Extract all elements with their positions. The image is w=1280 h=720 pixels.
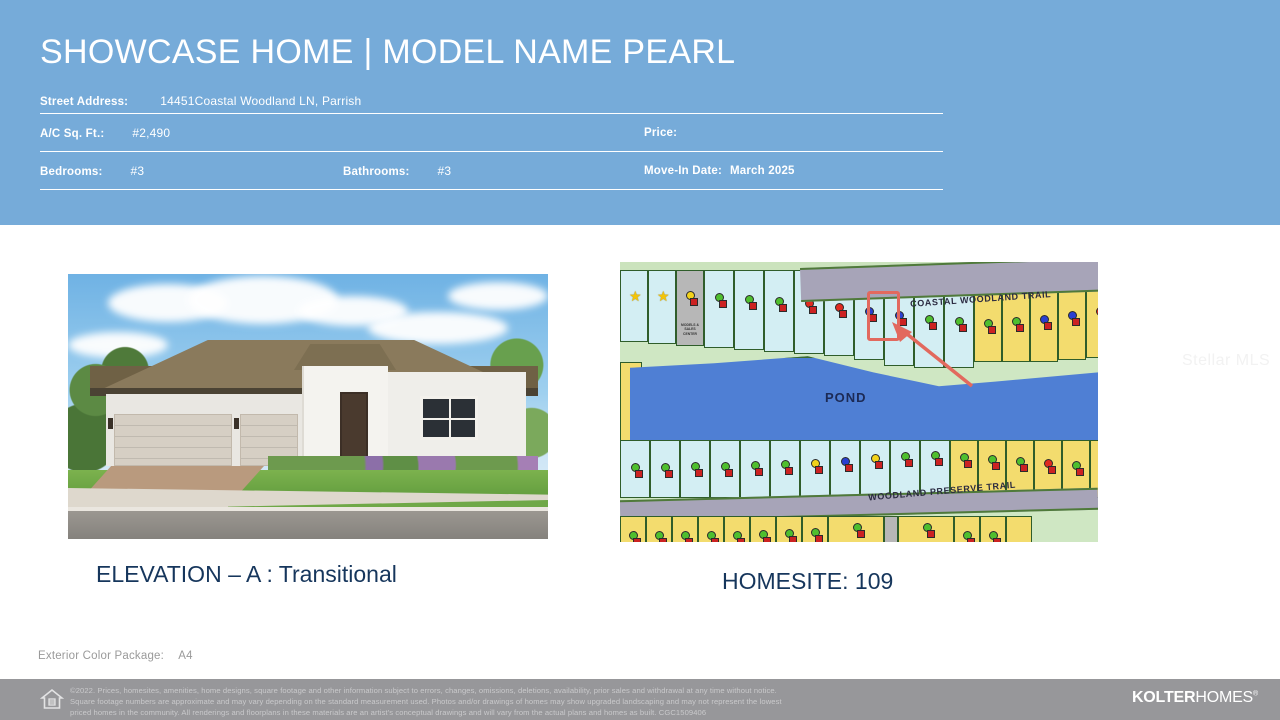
coach-lamp xyxy=(234,418,239,429)
specs-table: Street Address: 14451Coastal Woodland LN… xyxy=(40,88,943,190)
brand-bold-text: KOLTER xyxy=(1132,689,1195,706)
exterior-color-label: Exterior Color Package: xyxy=(38,650,164,662)
lot-sold[interactable] xyxy=(898,516,954,542)
lot[interactable] xyxy=(680,440,710,498)
lot-sold[interactable] xyxy=(802,516,828,542)
footer-bar: ©2022. Prices, homesites, amenities, hom… xyxy=(0,679,1280,720)
kolter-homes-logo: KOLTERHOMES® xyxy=(1132,689,1258,707)
street-address-cell: Street Address: 14451Coastal Woodland LN… xyxy=(40,94,361,108)
street-address-label: Street Address: xyxy=(40,96,128,108)
lot[interactable] xyxy=(770,440,800,498)
sitemap-lot-row-far-bottom xyxy=(620,516,1032,542)
spec-row-sqft-price: A/C Sq. Ft.: #2,490 Price: xyxy=(40,114,943,152)
front-door xyxy=(340,392,368,464)
bedrooms-label: Bedrooms: xyxy=(40,166,103,178)
lot-sold[interactable] xyxy=(750,516,776,542)
lot[interactable] xyxy=(704,270,734,348)
bathrooms-cell: Bathrooms: #3 xyxy=(343,164,451,178)
lot[interactable] xyxy=(764,270,794,352)
header-band: SHOWCASE HOME | MODEL NAME PEARL Street … xyxy=(0,0,1280,225)
lot-sold[interactable] xyxy=(954,516,980,542)
street-address-value: 14451Coastal Woodland LN, Parrish xyxy=(160,94,361,108)
movein-value: March 2025 xyxy=(730,165,795,177)
bedrooms-cell: Bedrooms: #3 xyxy=(40,164,144,178)
brand-light-text: HOMES xyxy=(1195,689,1253,706)
lot[interactable] xyxy=(800,440,830,498)
lot-note: MODELS & SALES CENTER xyxy=(677,323,703,336)
lot[interactable] xyxy=(860,440,890,498)
pond-label: POND xyxy=(825,390,867,405)
spec-row-beds-baths-movein: Bedrooms: #3 Bathrooms: #3 Move-In Date:… xyxy=(40,152,943,190)
lot-sold[interactable] xyxy=(828,516,884,542)
exterior-color-package: Exterior Color Package: A4 xyxy=(38,650,193,662)
front-window xyxy=(420,396,478,440)
cloud xyxy=(448,282,548,310)
homesite-pointer-arrow xyxy=(888,322,974,388)
movein-label: Move-In Date: xyxy=(644,165,722,177)
lot[interactable] xyxy=(710,440,740,498)
lot[interactable] xyxy=(734,270,764,350)
movein-cell: Move-In Date: March 2025 xyxy=(644,165,795,177)
equal-housing-opportunity-icon xyxy=(40,687,64,711)
homesite-caption: HOMESITE: 109 xyxy=(722,568,893,595)
lot-sold[interactable] xyxy=(646,516,672,542)
coach-lamp xyxy=(108,418,113,429)
disclaimer-line-3: priced homes in the community. All rende… xyxy=(70,708,1080,719)
elevation-photo xyxy=(68,274,548,539)
disclaimer-line-2: Square footage numbers are approximate a… xyxy=(70,697,1080,708)
lot-sold[interactable] xyxy=(620,516,646,542)
lot[interactable] xyxy=(740,440,770,498)
cross-street xyxy=(884,516,898,542)
price-label: Price: xyxy=(644,127,677,139)
price-cell: Price: xyxy=(644,127,685,139)
lot-amenity[interactable]: MODELS & SALES CENTER xyxy=(676,270,704,346)
elevation-caption: ELEVATION – A : Transitional xyxy=(96,561,397,588)
page-title: SHOWCASE HOME | MODEL NAME PEARL xyxy=(40,33,735,72)
street xyxy=(68,511,548,539)
footer-disclaimer: ©2022. Prices, homesites, amenities, hom… xyxy=(70,686,1080,718)
exterior-color-value: A4 xyxy=(178,650,192,662)
lot-sold[interactable] xyxy=(980,516,1006,542)
lot[interactable] xyxy=(830,440,860,498)
ac-sqft-label: A/C Sq. Ft.: xyxy=(40,128,104,140)
lot[interactable]: ★ xyxy=(620,270,648,342)
lot[interactable] xyxy=(620,440,650,498)
lot-sold[interactable] xyxy=(724,516,750,542)
stellar-mls-watermark: Stellar MLS xyxy=(1182,352,1270,370)
lot-sold[interactable] xyxy=(776,516,802,542)
ac-sqft-value: #2,490 xyxy=(132,126,170,140)
bedrooms-value: #3 xyxy=(131,164,145,178)
bathrooms-value: #3 xyxy=(438,164,452,178)
lot-sold[interactable] xyxy=(672,516,698,542)
spec-row-address: Street Address: 14451Coastal Woodland LN… xyxy=(40,88,943,114)
sitemap-image[interactable]: ★ ★ MODELS & SALES CENTER POND xyxy=(620,262,1098,542)
ac-sqft-cell: A/C Sq. Ft.: #2,490 xyxy=(40,126,170,140)
disclaimer-line-1: ©2022. Prices, homesites, amenities, hom… xyxy=(70,686,1080,697)
bathrooms-label: Bathrooms: xyxy=(343,166,410,178)
brand-trademark: ® xyxy=(1253,691,1258,698)
lot-sold[interactable] xyxy=(1006,516,1032,542)
lot-sold[interactable] xyxy=(698,516,724,542)
lot[interactable] xyxy=(650,440,680,498)
garage-door-double xyxy=(114,414,232,466)
lot[interactable]: ★ xyxy=(648,270,676,344)
